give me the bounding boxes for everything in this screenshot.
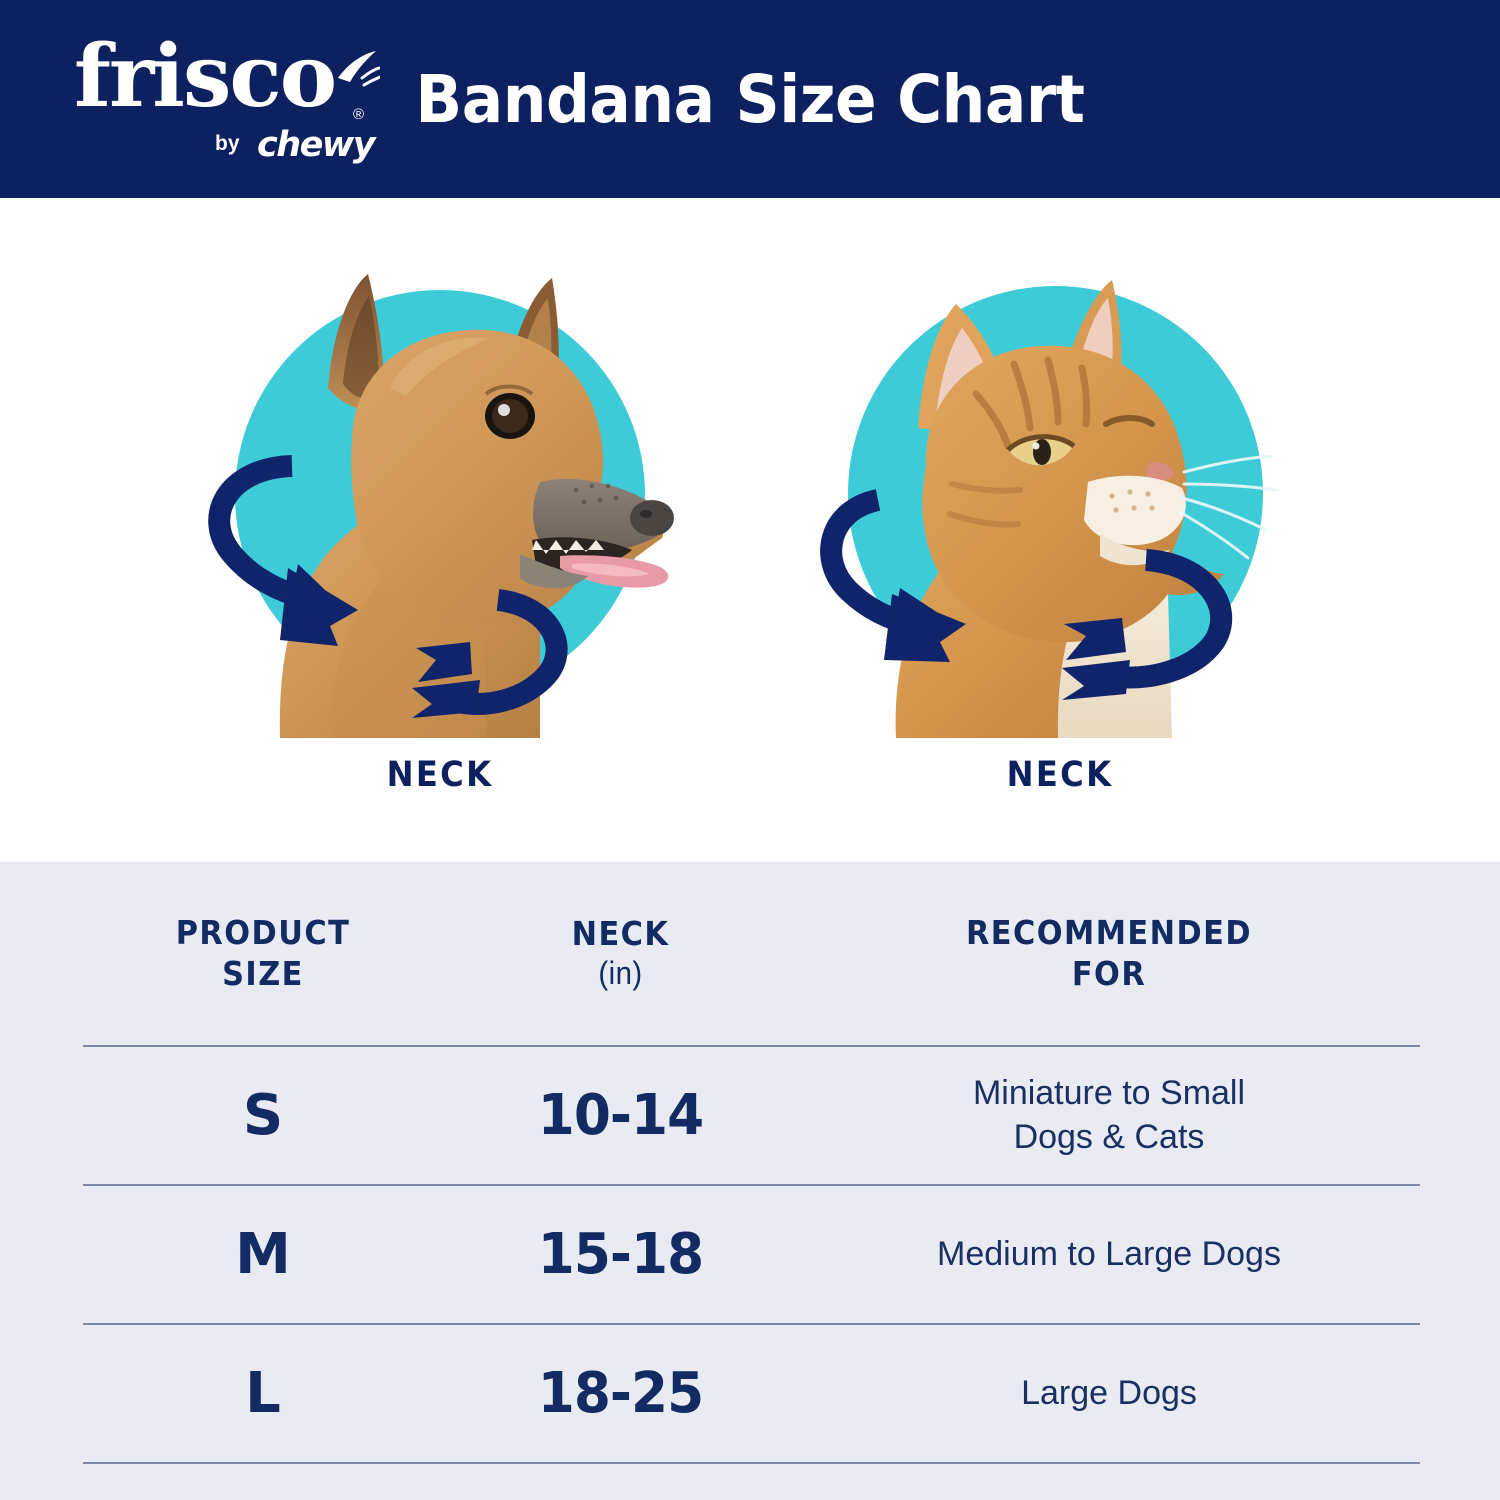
dog-measure-panel: NECK [180,268,700,828]
column-header-line2: FOR [823,954,1395,994]
column-header-neck: NECK (in) [457,914,784,993]
cell-neck: 18-25 [452,1361,789,1426]
column-header-line1: PRODUCT [97,913,428,953]
cat-neck-label: NECK [821,755,1299,795]
cell-product-size: S [83,1083,443,1148]
size-table-inner: PRODUCT SIZE NECK (in) RECOMMENDED FOR S… [83,862,1420,1464]
size-chart-page: frisco ® by chewy Bandana Size Chart [0,0,1500,1500]
cell-product-size: M [83,1222,443,1287]
cell-neck: 15-18 [452,1222,789,1287]
table-header-row: PRODUCT SIZE NECK (in) RECOMMENDED FOR [83,862,1420,1045]
cell-recommended-line1: Miniature to Small [798,1072,1420,1116]
cell-recommended-line2: Dogs & Cats [798,1116,1420,1160]
page-header: frisco ® by chewy Bandana Size Chart [0,0,1500,198]
column-header-line1: RECOMMENDED [823,913,1395,953]
cat-head-photo [800,268,1320,748]
illustration-area: NECK [0,198,1500,862]
size-table: PRODUCT SIZE NECK (in) RECOMMENDED FOR S… [0,862,1500,1500]
cat-stage [800,268,1320,748]
column-header-line1: NECK [457,914,784,954]
column-header-unit: (in) [457,954,784,993]
cell-recommended-for: Miniature to Small Dogs & Cats [798,1072,1420,1159]
cell-recommended-for: Large Dogs [798,1372,1420,1416]
cell-neck: 10-14 [452,1083,789,1148]
table-row: S 10-14 Miniature to Small Dogs & Cats [83,1047,1420,1184]
table-row: M 15-18 Medium to Large Dogs [83,1186,1420,1323]
cat-measure-panel: NECK [800,268,1320,828]
column-header-recommended-for: RECOMMENDED FOR [823,913,1395,994]
column-header-line2: SIZE [97,954,428,994]
table-row: L 18-25 Large Dogs [83,1325,1420,1462]
cell-product-size: L [83,1361,443,1426]
cell-recommended-for: Medium to Large Dogs [798,1233,1420,1277]
dog-neck-label: NECK [201,755,679,795]
dog-head-photo [180,268,700,748]
row-divider [83,1462,1420,1464]
dog-stage [180,268,700,748]
page-title: Bandana Size Chart [53,0,1448,198]
column-header-product-size: PRODUCT SIZE [97,913,428,994]
